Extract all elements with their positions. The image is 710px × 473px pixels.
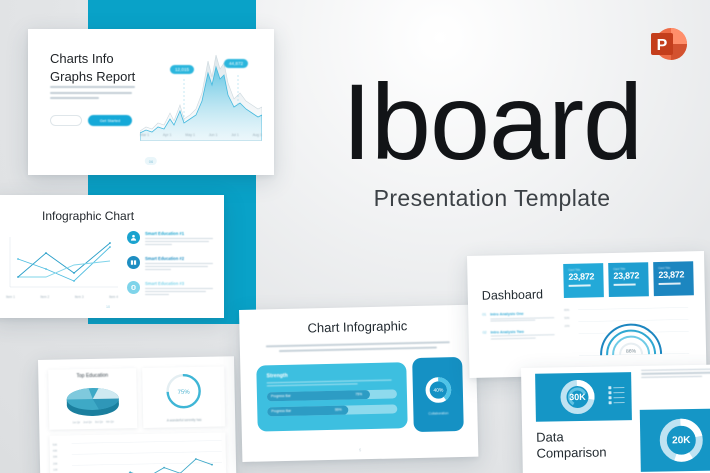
slide-chart-infographic[interactable]: Chart Infographic Strength Progress Bar …	[239, 305, 478, 462]
trend-card: 50K 40K 30K 20K 10K 0 Value Title Here 5…	[49, 432, 226, 473]
donut-center-value: 30K	[569, 392, 586, 402]
slide2-page-number: 10	[106, 305, 110, 309]
slide1-paragraph	[50, 86, 135, 103]
dashboard-stat-cards: Card Title 23,872 Card Title 23,872 Card…	[563, 261, 694, 298]
slide1-page-number: 06	[145, 157, 157, 165]
x-tick: Aug 1	[253, 133, 262, 137]
powerpoint-icon: P	[646, 22, 690, 66]
stat-card-value: 23,872	[568, 271, 598, 282]
trend-line-chart	[49, 432, 226, 473]
donut-panel-20k: 20K	[640, 408, 710, 472]
y-tick: 10K	[53, 467, 58, 473]
donut-panel-30k: 30K	[535, 372, 632, 422]
slide6-paragraph	[641, 369, 710, 380]
stat-card-value: 23,872	[613, 270, 643, 281]
donut-card: 75% A wonderful serenity has	[142, 366, 225, 428]
slide1-x-axis: Mar 1 Apr 1 May 1 Jun 1 Jul 1 Aug 1	[140, 133, 262, 137]
list-item-number: 02	[483, 330, 487, 341]
radial-gauge-chart: 86% 80% 50% 20%	[564, 301, 693, 364]
donut-chart: 75%	[142, 366, 225, 414]
get-started-button[interactable]: Get Started	[88, 115, 132, 126]
slide-top-education[interactable]: Top Education 1st Qtr 2nd Qtr 3rd Qtr 4t…	[38, 356, 237, 473]
x-tick: Mar 1	[140, 133, 149, 137]
stat-card-underline	[659, 283, 681, 285]
svg-text:P: P	[657, 37, 668, 54]
stat-card-label: Card Title	[613, 266, 643, 271]
list-item-label: Intro Analysis Two	[491, 329, 555, 334]
slide2-x-axis: Item 1 Item 2 Item 3 Item 4	[6, 295, 118, 299]
list-item-body	[145, 263, 213, 270]
collaboration-card: 40% Collaboration	[412, 357, 464, 432]
slide-data-comparison[interactable]: Data Comparison 30K 20K	[521, 365, 710, 473]
gauge-center-value: 86%	[626, 348, 637, 354]
slide-dashboard[interactable]: Dashboard 01 Intro Analysis One 02 Intro…	[467, 251, 707, 378]
list-item-label: Smart Education #2	[145, 256, 213, 261]
svg-text:75%: 75%	[178, 390, 191, 396]
pie-legend: 1st Qtr 2nd Qtr 3rd Qtr 4th Qtr	[49, 420, 137, 425]
slide4-title: Chart Infographic	[239, 317, 475, 337]
slide6-title: Data Comparison	[536, 429, 607, 463]
slide1-buttons: Get Started	[50, 115, 132, 126]
y-tick: 30K	[53, 455, 58, 461]
slide2-item-list: Smart Education #1 Smart Education #2 S	[127, 231, 213, 306]
y-tick: 20K	[53, 461, 58, 467]
progress-bar-value: 55%	[335, 406, 342, 415]
donut-chart: 40%	[421, 373, 455, 407]
donut-chart: 30K	[549, 373, 606, 422]
stat-card-underline	[614, 283, 636, 285]
list-item-body	[145, 288, 213, 295]
legend-item: 4th Qtr	[106, 421, 114, 424]
x-tick: Item 1	[6, 295, 15, 299]
page-title: Iboard	[312, 72, 672, 171]
stat-card-value: 23,872	[658, 269, 688, 280]
list-item[interactable]: Smart Education #1	[127, 231, 213, 247]
stat-card[interactable]: Card Title 23,872	[653, 261, 694, 296]
trend-y-axis: 50K 40K 30K 20K 10K 0	[53, 443, 58, 473]
user-icon	[127, 231, 140, 244]
x-tick: Apr 1	[163, 133, 172, 137]
stat-card[interactable]: Card Title 23,872	[563, 263, 604, 298]
list-item[interactable]: Smart Education #2	[127, 256, 213, 272]
y-tick: 20%	[564, 323, 569, 331]
list-item-label: Smart Education #3	[145, 281, 213, 286]
list-item-label: Intro Analysis One	[490, 311, 554, 316]
x-tick: Item 2	[40, 295, 49, 299]
stat-card[interactable]: Card Title 23,872	[608, 262, 649, 297]
line-chart	[2, 233, 120, 291]
legend-item: 2nd Qtr	[83, 421, 92, 424]
donut-chart: 20K	[650, 409, 710, 472]
donut-center-value: 20K	[672, 435, 691, 446]
hero-subtitle: Presentation Template	[312, 185, 672, 212]
stat-card-label: Card Title	[658, 265, 688, 270]
list-item-body	[145, 238, 213, 245]
strength-subtext	[267, 379, 397, 386]
donut-caption: A wonderful serenity has	[143, 417, 225, 423]
pie-chart	[48, 378, 137, 420]
progress-bar-value: 75%	[355, 390, 362, 399]
hero-block: Iboard Presentation Template	[312, 72, 672, 212]
strength-panel: Strength Progress Bar 75% Progress Bar 5…	[256, 362, 407, 431]
legend-item: 1st Qtr	[72, 421, 80, 424]
chart-badge-1: 12,015	[170, 65, 194, 74]
x-tick: Jul 1	[231, 133, 239, 137]
legend-item: 3rd Qtr	[95, 421, 103, 424]
slide4-paragraph	[266, 341, 450, 355]
list-item[interactable]: 01 Intro Analysis One	[482, 311, 554, 323]
slide-infographic-chart[interactable]: Infographic Chart 5 4 3 2 1 Item 1 Item …	[0, 195, 224, 318]
slide-charts-info[interactable]: Charts Info Graphs Report Get Started	[28, 29, 274, 175]
pie-card: Top Education 1st Qtr 2nd Qtr 3rd Qtr 4t…	[48, 368, 137, 430]
list-item-label: Smart Education #1	[145, 231, 213, 236]
x-tick: Item 3	[75, 295, 84, 299]
book-icon	[127, 256, 140, 269]
read-more-button[interactable]	[50, 115, 82, 126]
strength-title: Strength	[266, 370, 396, 379]
list-item[interactable]: Smart Education #3	[127, 281, 213, 297]
progress-bar-label: Progress Bar	[271, 392, 291, 401]
chart-badge-2: 44,872	[224, 59, 248, 68]
list-item-number: 01	[482, 313, 486, 324]
x-tick: Jun 1	[209, 133, 218, 137]
slide5-title: Dashboard	[482, 287, 543, 302]
progress-bar: Progress Bar 75%	[267, 390, 397, 402]
dashboard-item-list: 01 Intro Analysis One 02 Intro Analysis …	[482, 311, 555, 348]
slide2-title: Infographic Chart	[42, 209, 134, 223]
y-tick: 50%	[564, 315, 569, 323]
donut-legend	[609, 386, 625, 407]
collaboration-label: Collaboration	[428, 411, 448, 415]
stat-card-underline	[569, 284, 591, 286]
stat-card-label: Card Title	[568, 267, 598, 272]
list-item-body	[490, 317, 554, 322]
donut-center-value: 40%	[433, 388, 444, 394]
area-chart: 12,015 44,872	[140, 43, 262, 141]
x-tick: Item 4	[109, 295, 118, 299]
list-item[interactable]: 02 Intro Analysis Two	[483, 329, 555, 341]
gauge-y-axis: 80% 50% 20%	[564, 307, 570, 331]
slide4-page-number: 5	[359, 448, 361, 452]
slide1-title: Charts Info Graphs Report	[50, 50, 135, 85]
progress-bar: Progress Bar 55%	[267, 405, 397, 417]
list-item-body	[491, 334, 555, 339]
globe-icon	[127, 281, 140, 294]
y-tick: 80%	[564, 307, 569, 315]
progress-bar-label: Progress Bar	[271, 407, 291, 416]
x-tick: May 1	[185, 133, 195, 137]
